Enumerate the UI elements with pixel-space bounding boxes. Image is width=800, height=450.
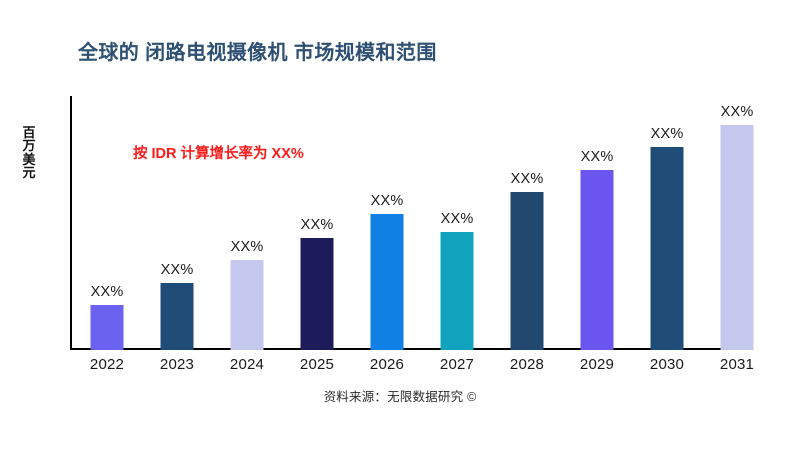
bar-2026[interactable] <box>371 214 404 350</box>
bar-2025[interactable] <box>301 238 334 350</box>
chart-container: 全球的 闭路电视摄像机 市场规模和范围 百万美元 XX%XX%XX%XX%XX%… <box>0 0 800 450</box>
bar-group-2026: XX% <box>352 96 422 350</box>
x-tick-2023: 2023 <box>142 356 212 373</box>
bar-2029[interactable] <box>581 170 614 350</box>
bar-group-2029: XX% <box>562 96 632 350</box>
bar-2027[interactable] <box>441 232 474 350</box>
x-axis-tick-labels: 2022202320242025202620272028202920302031 <box>70 356 782 380</box>
x-tick-2024: 2024 <box>212 356 282 373</box>
bar-2022[interactable] <box>91 305 124 350</box>
x-tick-2027: 2027 <box>422 356 492 373</box>
plot-area: XX%XX%XX%XX%XX%XX%XX%XX%XX%XX% <box>70 96 782 352</box>
bar-2024[interactable] <box>231 260 264 350</box>
x-tick-2030: 2030 <box>632 356 702 373</box>
bar-2031[interactable] <box>721 125 754 350</box>
bar-group-2028: XX% <box>492 96 562 350</box>
bar-value-label-2023: XX% <box>161 262 194 278</box>
bar-group-2023: XX% <box>142 96 212 350</box>
bar-value-label-2030: XX% <box>651 126 684 142</box>
bar-2030[interactable] <box>651 147 684 350</box>
bar-2023[interactable] <box>161 283 194 350</box>
bar-value-label-2024: XX% <box>231 239 264 255</box>
bar-value-label-2029: XX% <box>581 149 614 165</box>
x-tick-2029: 2029 <box>562 356 632 373</box>
x-tick-2028: 2028 <box>492 356 562 373</box>
x-tick-2031: 2031 <box>702 356 772 373</box>
bar-value-label-2027: XX% <box>441 211 474 227</box>
bar-group-2031: XX% <box>702 96 772 350</box>
cagr-annotation: 按 IDR 计算增长率为 XX% <box>133 142 304 163</box>
bar-2028[interactable] <box>511 192 544 350</box>
x-tick-2025: 2025 <box>282 356 352 373</box>
source-note: 资料来源：无限数据研究 © <box>0 386 800 405</box>
x-tick-2022: 2022 <box>72 356 142 373</box>
bar-value-label-2031: XX% <box>721 104 754 120</box>
bar-group-2024: XX% <box>212 96 282 350</box>
y-axis-label: 百万美元 <box>18 126 40 179</box>
bar-value-label-2022: XX% <box>91 284 124 300</box>
bar-group-2030: XX% <box>632 96 702 350</box>
bar-group-2022: XX% <box>72 96 142 350</box>
bar-group-2025: XX% <box>282 96 352 350</box>
x-tick-2026: 2026 <box>352 356 422 373</box>
bar-group-2027: XX% <box>422 96 492 350</box>
bar-value-label-2026: XX% <box>371 193 404 209</box>
bar-value-label-2028: XX% <box>511 171 544 187</box>
page-title: 全球的 闭路电视摄像机 市场规模和范围 <box>78 36 437 65</box>
bar-value-label-2025: XX% <box>301 217 334 233</box>
